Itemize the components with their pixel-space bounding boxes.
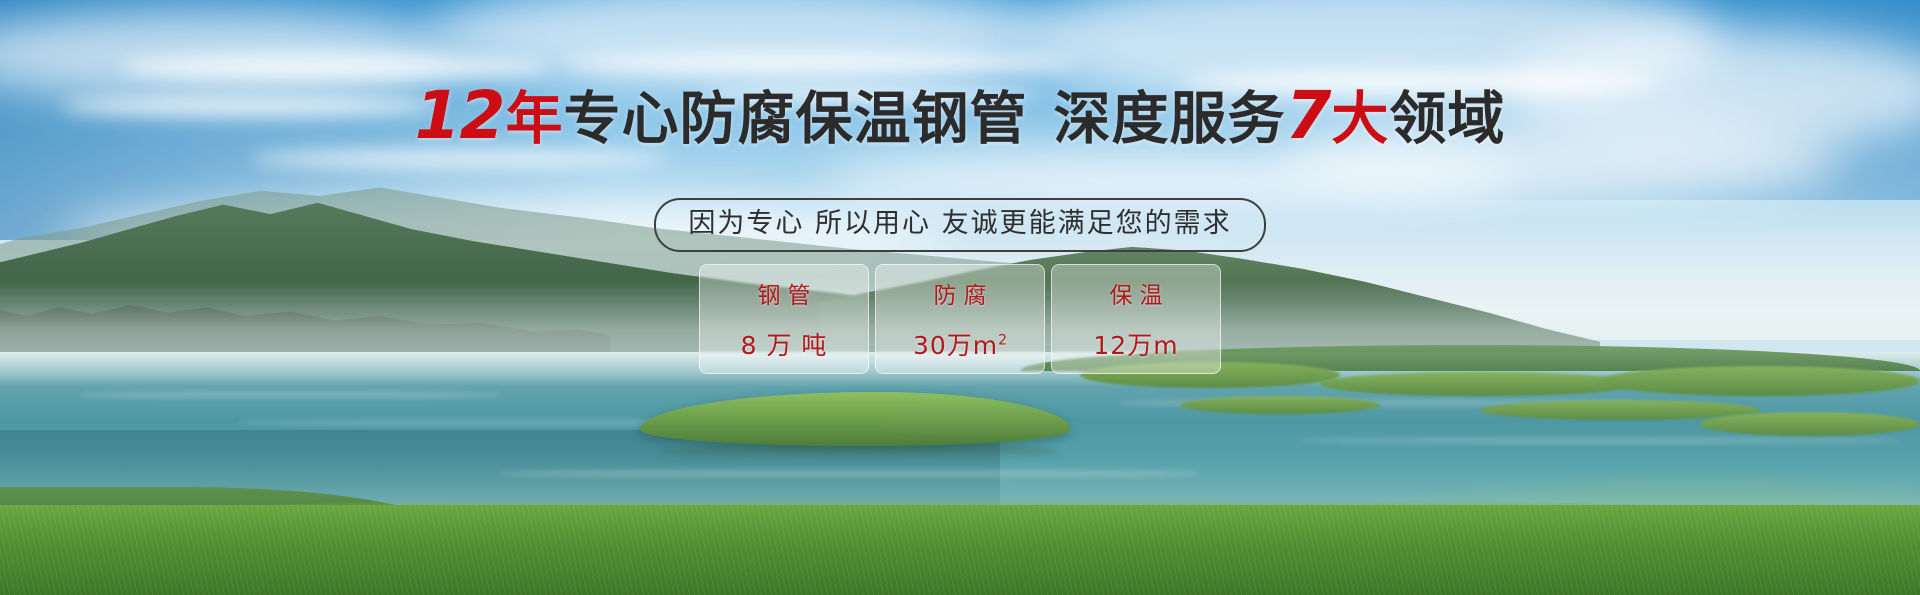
headline-fields-number: 7 [1285, 77, 1331, 154]
subtitle-pill: 因为专心 所以用心 友诚更能满足您的需求 [654, 198, 1265, 252]
stat-card-value: 12万m [1093, 326, 1178, 362]
stat-card-caption: 保温 [1103, 276, 1170, 310]
promo-banner: 12年专心防腐保温钢管深度服务7大领域 因为专心 所以用心 友诚更能满足您的需求… [0, 0, 1920, 595]
headline-years-unit: 年 [505, 86, 563, 152]
stat-card-steel-pipe[interactable]: 钢管 8 万 吨 [699, 264, 869, 374]
grass-texture [0, 505, 1920, 595]
headline-service-text: 深度服务 [1053, 86, 1285, 152]
stat-card-value-sup: 2 [998, 333, 1007, 349]
stat-card-anticorrosion[interactable]: 防腐 30万m2 [875, 264, 1045, 374]
marsh-patch [1700, 412, 1920, 436]
stat-card-insulation[interactable]: 保温 12万m [1051, 264, 1221, 374]
headline-fields-unit: 大 [1331, 86, 1389, 152]
stat-card-value-text: 30万m [913, 331, 998, 360]
headline-fields-text: 领域 [1389, 86, 1505, 152]
headline-years-number: 12 [415, 77, 506, 154]
subtitle-container: 因为专心 所以用心 友诚更能满足您的需求 [0, 198, 1920, 252]
water-ripple [1300, 438, 1900, 443]
stat-card-value-text: 8 万 吨 [741, 331, 828, 360]
water-ripple [500, 470, 1200, 477]
water-ripple [80, 392, 500, 398]
stat-cards: 钢管 8 万 吨 防腐 30万m2 保温 12万m [0, 264, 1920, 374]
stat-card-value: 8 万 吨 [741, 326, 828, 362]
stat-card-caption: 防腐 [927, 276, 994, 310]
headline-main-text: 专心防腐保温钢管 [563, 86, 1027, 152]
headline: 12年专心防腐保温钢管深度服务7大领域 [0, 83, 1920, 152]
stat-card-value-text: 12万m [1093, 331, 1178, 360]
cloud-wisp [560, 52, 1080, 74]
stat-card-value: 30万m2 [913, 326, 1007, 362]
stat-card-caption: 钢管 [751, 276, 818, 310]
marsh-patch [1320, 372, 1640, 396]
marsh-patch [1180, 396, 1380, 414]
